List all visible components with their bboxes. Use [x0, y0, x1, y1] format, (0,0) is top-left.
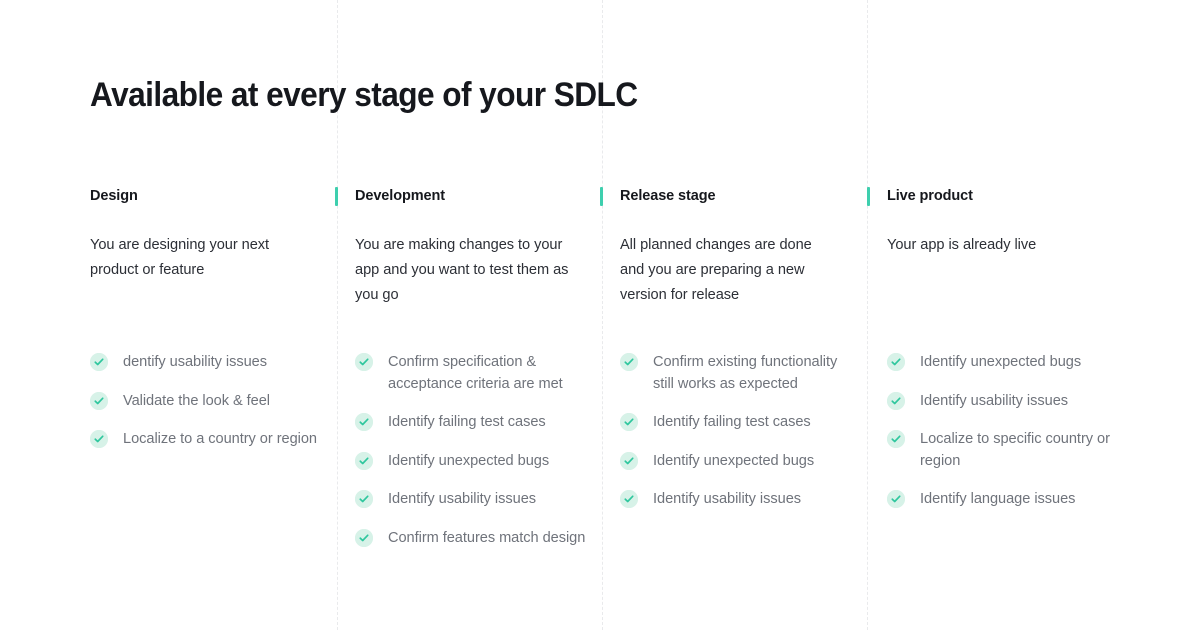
column-header: Development — [355, 186, 583, 208]
list-item-label: Localize to a country or region — [123, 431, 317, 447]
column-description: You are making changes to your app and y… — [355, 233, 570, 307]
column-checklist: Confirm existing functionality still wor… — [620, 352, 852, 528]
stage-column-release-stage: Release stage All planned changes are do… — [620, 186, 848, 307]
list-item-label: Confirm features match design — [388, 530, 585, 546]
list-item-label: Identify unexpected bugs — [388, 453, 549, 469]
list-item-label: Identify unexpected bugs — [653, 453, 814, 469]
stage-column-live-product: Live product Your app is already live Id… — [887, 186, 1115, 258]
slide-canvas: Available at every stage of your SDLC De… — [0, 0, 1200, 630]
list-item-label: Identify failing test cases — [653, 414, 811, 430]
column-description: All planned changes are done and you are… — [620, 233, 835, 307]
check-circle-icon — [355, 529, 373, 547]
list-item: Identify language issues — [887, 489, 1119, 511]
column-description: Your app is already live — [887, 233, 1102, 258]
check-circle-icon — [90, 353, 108, 371]
list-item-label: Confirm existing functionality still wor… — [653, 354, 837, 392]
column-header: Release stage — [620, 186, 848, 208]
list-item-label: Identify failing test cases — [388, 414, 546, 430]
list-item-label: Validate the look & feel — [123, 393, 270, 409]
check-circle-icon — [887, 353, 905, 371]
check-circle-icon — [887, 430, 905, 448]
column-header: Design — [90, 186, 318, 208]
list-item: Identify failing test cases — [355, 412, 587, 434]
check-circle-icon — [620, 353, 638, 371]
list-item-label: Confirm specification & acceptance crite… — [388, 354, 563, 392]
stage-column-design: Design You are designing your next produ… — [90, 186, 318, 283]
list-item: Identify usability issues — [355, 489, 587, 511]
column-description: You are designing your next product or f… — [90, 233, 305, 283]
column-checklist: Identify unexpected bugs Identify usabil… — [887, 352, 1119, 528]
column-title: Live product — [887, 188, 973, 204]
check-circle-icon — [90, 392, 108, 410]
list-item: Identify unexpected bugs — [887, 352, 1119, 374]
list-item: Identify usability issues — [887, 391, 1119, 413]
list-item: Confirm existing functionality still wor… — [620, 352, 852, 395]
list-item-label: Identify unexpected bugs — [920, 354, 1081, 370]
stage-column-development: Development You are making changes to yo… — [355, 186, 583, 307]
check-circle-icon — [887, 392, 905, 410]
list-item-label: Localize to specific country or region — [920, 431, 1110, 469]
check-circle-icon — [355, 353, 373, 371]
check-circle-icon — [355, 490, 373, 508]
accent-bar — [867, 187, 870, 206]
list-item-label: dentify usability issues — [123, 354, 267, 370]
list-item: Identify usability issues — [620, 489, 852, 511]
column-header: Live product — [887, 186, 1115, 208]
list-item-label: Identify usability issues — [388, 491, 536, 507]
list-item-label: Identify usability issues — [653, 491, 801, 507]
list-item: Localize to specific country or region — [887, 429, 1119, 472]
list-item: Identify unexpected bugs — [355, 451, 587, 473]
column-checklist: Confirm specification & acceptance crite… — [355, 352, 587, 566]
check-circle-icon — [355, 452, 373, 470]
accent-bar — [600, 187, 603, 206]
check-circle-icon — [355, 413, 373, 431]
check-circle-icon — [620, 490, 638, 508]
list-item: Confirm specification & acceptance crite… — [355, 352, 587, 395]
column-title: Design — [90, 188, 138, 204]
column-title: Development — [355, 188, 445, 204]
check-circle-icon — [620, 413, 638, 431]
list-item-label: Identify language issues — [920, 491, 1075, 507]
list-item: Localize to a country or region — [90, 429, 322, 451]
check-circle-icon — [887, 490, 905, 508]
column-checklist: dentify usability issues Validate the lo… — [90, 352, 322, 468]
list-item: Identify failing test cases — [620, 412, 852, 434]
list-item: Confirm features match design — [355, 528, 587, 550]
column-divider-3 — [867, 0, 868, 630]
list-item-label: Identify usability issues — [920, 393, 1068, 409]
check-circle-icon — [620, 452, 638, 470]
column-title: Release stage — [620, 188, 715, 204]
list-item: Identify unexpected bugs — [620, 451, 852, 473]
list-item: dentify usability issues — [90, 352, 322, 374]
check-circle-icon — [90, 430, 108, 448]
accent-bar — [335, 187, 338, 206]
list-item: Validate the look & feel — [90, 391, 322, 413]
page-title: Available at every stage of your SDLC — [90, 73, 638, 117]
